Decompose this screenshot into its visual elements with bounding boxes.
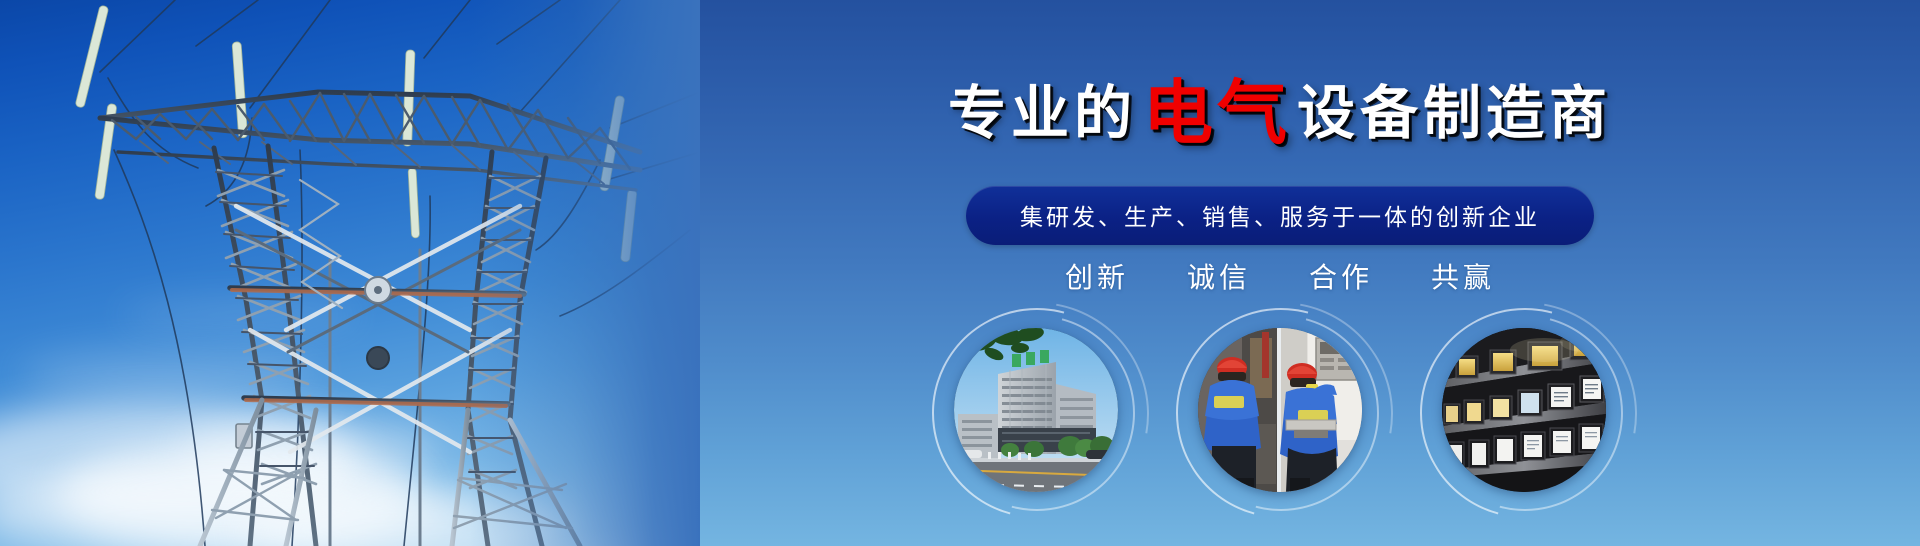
slogan-item-winwin: 共赢 <box>1431 256 1495 296</box>
certificate-wall-image <box>1442 328 1606 492</box>
headline-part-1: 专业的 <box>948 81 1137 146</box>
photo-circle-certificate-wall[interactable] <box>1436 322 1612 498</box>
slogan-item-cooperation: 合作 <box>1309 256 1373 296</box>
slogan-row: 创新 诚信 合作 共赢 <box>640 256 1920 296</box>
headline-highlight: 电气 <box>1137 74 1297 152</box>
office-building-illustration <box>954 328 1118 492</box>
subtitle-pill: 集研发、生产、销售、服务于一体的创新企业 <box>966 186 1594 245</box>
subtitle-pill-wrapper: 集研发、生产、销售、服务于一体的创新企业 <box>640 186 1920 245</box>
certificate-wall-illustration <box>1442 328 1606 492</box>
photo-circle-row <box>640 322 1920 498</box>
headline: 专业的电气设备制造商 <box>640 74 1920 144</box>
promo-banner: 专业的电气设备制造商 集研发、生产、销售、服务于一体的创新企业 创新 诚信 合作… <box>0 0 1920 546</box>
transmission-tower-photo <box>0 0 700 546</box>
slogan-item-integrity: 诚信 <box>1187 256 1251 296</box>
engineers-illustration <box>1198 328 1362 492</box>
engineers-at-work-image <box>1198 328 1362 492</box>
slogan-item-innovation: 创新 <box>1065 256 1129 296</box>
photo-circle-office-building[interactable] <box>948 322 1124 498</box>
office-building-image <box>954 328 1118 492</box>
photo-circle-engineers[interactable] <box>1192 322 1368 498</box>
banner-content: 专业的电气设备制造商 集研发、生产、销售、服务于一体的创新企业 创新 诚信 合作… <box>640 0 1920 546</box>
headline-part-2: 设备制造商 <box>1297 81 1612 146</box>
